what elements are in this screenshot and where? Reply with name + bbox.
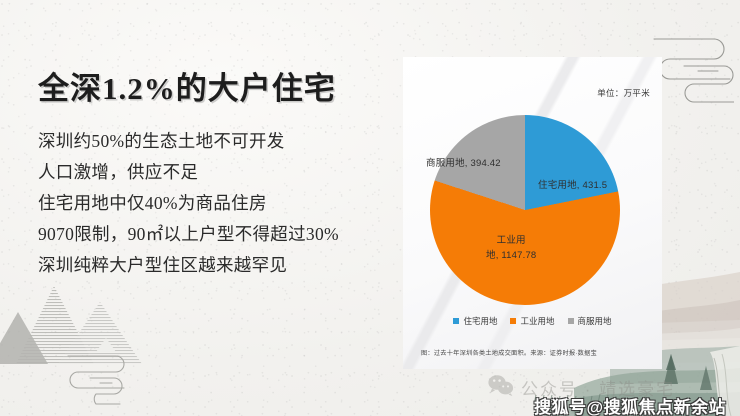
chart-unit-label: 单位：万平米 [597, 87, 650, 99]
chart-legend: 住宅用地 工业用地 商服用地 [403, 315, 662, 327]
sohu-watermark: 搜狐号@搜狐焦点新余站 [534, 393, 726, 416]
pie-label-industrial-line2: 地, 1147.78 [486, 248, 536, 263]
list-item: 人口激增，供应不足 [38, 157, 388, 188]
list-item: 9070限制，90㎡以上户型不得超过30% [38, 219, 388, 250]
pie-label-residential: 住宅用地, 431.5 [538, 177, 607, 191]
wechat-icon [488, 374, 514, 401]
legend-swatch-icon [568, 318, 574, 324]
legend-label: 住宅用地 [463, 315, 497, 327]
list-item: 住宅用地中仅40%为商品住房 [38, 188, 388, 219]
pie-label-industrial: 工业用 地, 1147.78 [486, 233, 536, 263]
legend-label: 商服用地 [578, 315, 612, 327]
page-title: 全深1.2%的大户住宅 [38, 63, 336, 108]
bullet-list: 深圳约50%的生态土地不可开发 人口激增，供应不足 住宅用地中仅40%为商品住房… [38, 126, 388, 281]
legend-label: 工业用地 [520, 315, 554, 327]
list-item: 深圳约50%的生态土地不可开发 [38, 126, 388, 157]
pie-disc [430, 115, 620, 305]
pie-chart: 住宅用地, 431.5 商服用地, 394.42 工业用 地, 1147.78 [430, 115, 620, 305]
legend-swatch-icon [453, 318, 459, 324]
legend-item-commercial: 商服用地 [568, 315, 612, 327]
legend-swatch-icon [510, 318, 516, 324]
chart-panel: 单位：万平米 住宅用地, 431.5 商服用地, 394.42 工业用 地, 1… [403, 57, 662, 369]
pie-label-industrial-line1: 工业用 [486, 233, 536, 248]
slide-canvas: 全深1.2%的大户住宅 深圳约50%的生态土地不可开发 人口激增，供应不足 住宅… [0, 0, 740, 416]
pie-label-commercial: 商服用地, 394.42 [426, 155, 501, 169]
list-item: 深圳纯粹大户型住区越来越罕见 [38, 250, 388, 281]
legend-item-residential: 住宅用地 [453, 315, 497, 327]
chart-source-caption: 图：过去十年深圳各类土地成交面积。来源：证券时报·数据宝 [421, 347, 597, 357]
legend-item-industrial: 工业用地 [510, 315, 554, 327]
